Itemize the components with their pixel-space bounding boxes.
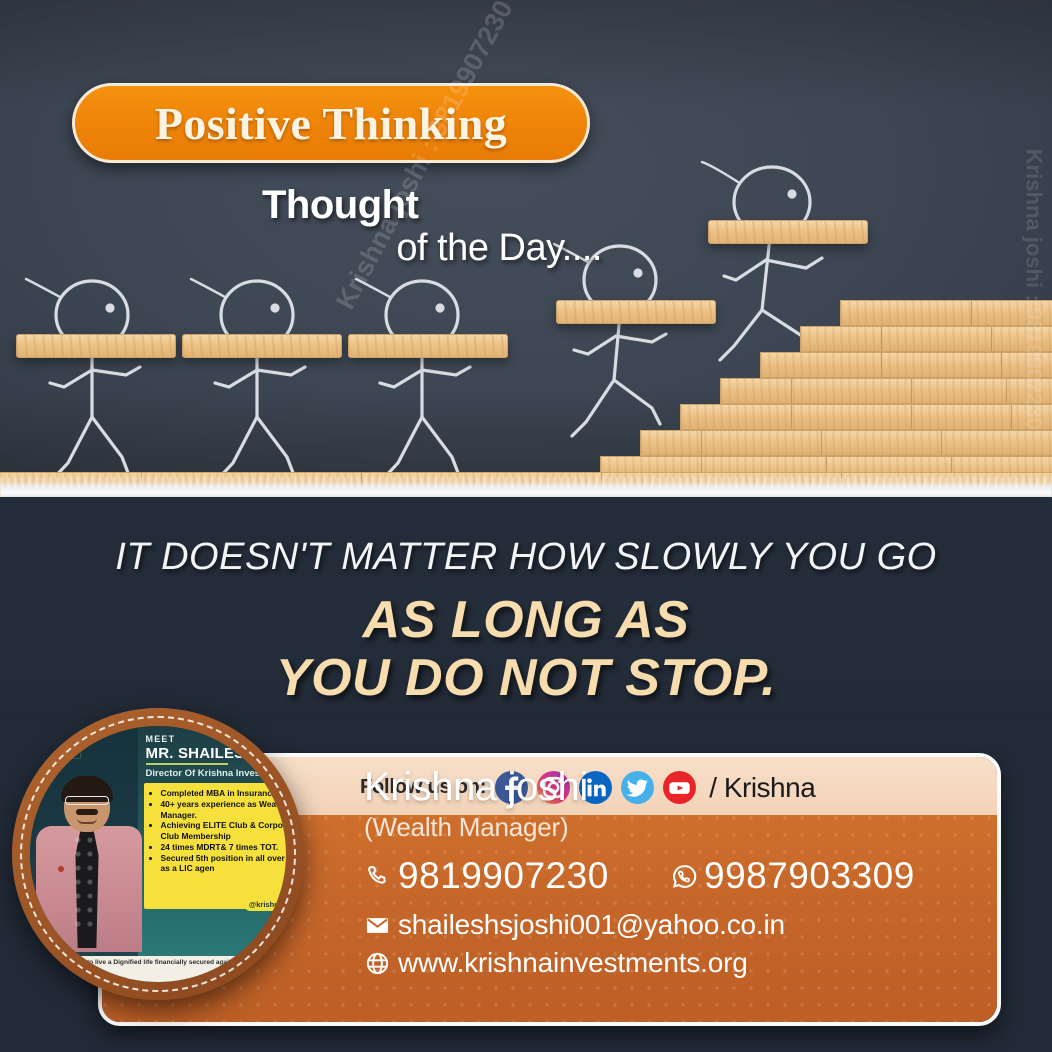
divider bbox=[146, 763, 228, 765]
quote-line-2: AS LONG AS bbox=[0, 591, 1052, 649]
wood-plank bbox=[348, 334, 508, 358]
list-item: Achieving ELITE Club & Corporate Club Me… bbox=[161, 820, 286, 842]
promo-footer: 1 Lakh Families to live a Dignified life… bbox=[30, 956, 286, 982]
wooden-stair-steps bbox=[600, 300, 1052, 498]
profile-designation: Director Of Krishna Investmen bbox=[146, 768, 283, 779]
quote-line-1: IT DOESN'T MATTER HOW SLOWLY YOU GO bbox=[0, 536, 1052, 579]
contact-details: Krishna joshi (Wealth Manager) 981990723… bbox=[352, 757, 997, 1022]
thought-line-2: of the Day.... bbox=[262, 229, 602, 268]
email-address: shaileshsjoshi001@yahoo.co.in bbox=[398, 909, 785, 941]
achievements-box: Completed MBA in Insurance. 40+ years ex… bbox=[144, 783, 286, 909]
profile-person-name: MR. SHAILESH JO bbox=[146, 745, 281, 762]
quote-line-3: YOU DO NOT STOP. bbox=[0, 649, 1052, 707]
agent-name: Krishna joshi bbox=[364, 765, 588, 810]
agent-role: (Wealth Manager) bbox=[364, 812, 568, 843]
list-item: Completed MBA in Insurance. bbox=[161, 788, 286, 799]
profile-photo: MEET MR. SHAILESH JO Director Of Krishna… bbox=[30, 726, 286, 982]
website-url: www.krishnainvestments.org bbox=[398, 947, 748, 979]
whatsapp-number: 9987903309 bbox=[704, 855, 915, 897]
website-row[interactable]: www.krishnainvestments.org bbox=[364, 947, 748, 979]
person-photo bbox=[36, 776, 142, 952]
thought-line-1: Thought bbox=[262, 185, 602, 226]
list-item: 40+ years experience as Wealth Manager. bbox=[161, 799, 286, 821]
globe-icon bbox=[364, 950, 398, 977]
meet-label: MEET bbox=[146, 734, 176, 744]
wood-plank bbox=[182, 334, 342, 358]
list-item: Secured 5th position in all over India, … bbox=[161, 853, 286, 875]
profile-photo-frame: MEET MR. SHAILESH JO Director Of Krishna… bbox=[12, 708, 304, 1000]
email-row[interactable]: shaileshsjoshi001@yahoo.co.in bbox=[364, 909, 785, 941]
whatsapp-icon bbox=[670, 862, 704, 891]
positive-thinking-badge: Positive Thinking bbox=[72, 83, 590, 163]
photo-right-panel: MEET MR. SHAILESH JO Director Of Krishna… bbox=[138, 726, 286, 982]
achievements-list: Completed MBA in Insurance. 40+ years ex… bbox=[161, 788, 286, 874]
photo-left-panel bbox=[30, 726, 138, 982]
phone-number: 9819907230 bbox=[398, 855, 609, 897]
whatsapp-row[interactable]: 9987903309 bbox=[670, 855, 915, 897]
envelope-icon bbox=[364, 912, 398, 939]
phone-row[interactable]: 9819907230 bbox=[364, 855, 609, 897]
promo-footer-text: 1 Lakh Families to live a Dignified life… bbox=[36, 959, 280, 967]
list-item: 24 times MDRT& 7 times TOT. bbox=[161, 842, 286, 853]
handle-tag: @krishna. bbox=[244, 898, 286, 911]
profile-promo-card: MEET MR. SHAILESH JO Director Of Krishna… bbox=[30, 726, 286, 982]
poster-canvas: Positive Thinking Thought of the Day....… bbox=[0, 0, 1052, 1052]
phone-icon bbox=[364, 863, 398, 890]
wood-plank bbox=[708, 220, 868, 244]
badge-label: Positive Thinking bbox=[155, 97, 507, 150]
quote-block: IT DOESN'T MATTER HOW SLOWLY YOU GO AS L… bbox=[0, 536, 1052, 707]
wood-plank bbox=[16, 334, 176, 358]
chart-thumbnail-icon bbox=[37, 731, 81, 759]
thought-of-the-day: Thought of the Day.... bbox=[262, 185, 602, 268]
